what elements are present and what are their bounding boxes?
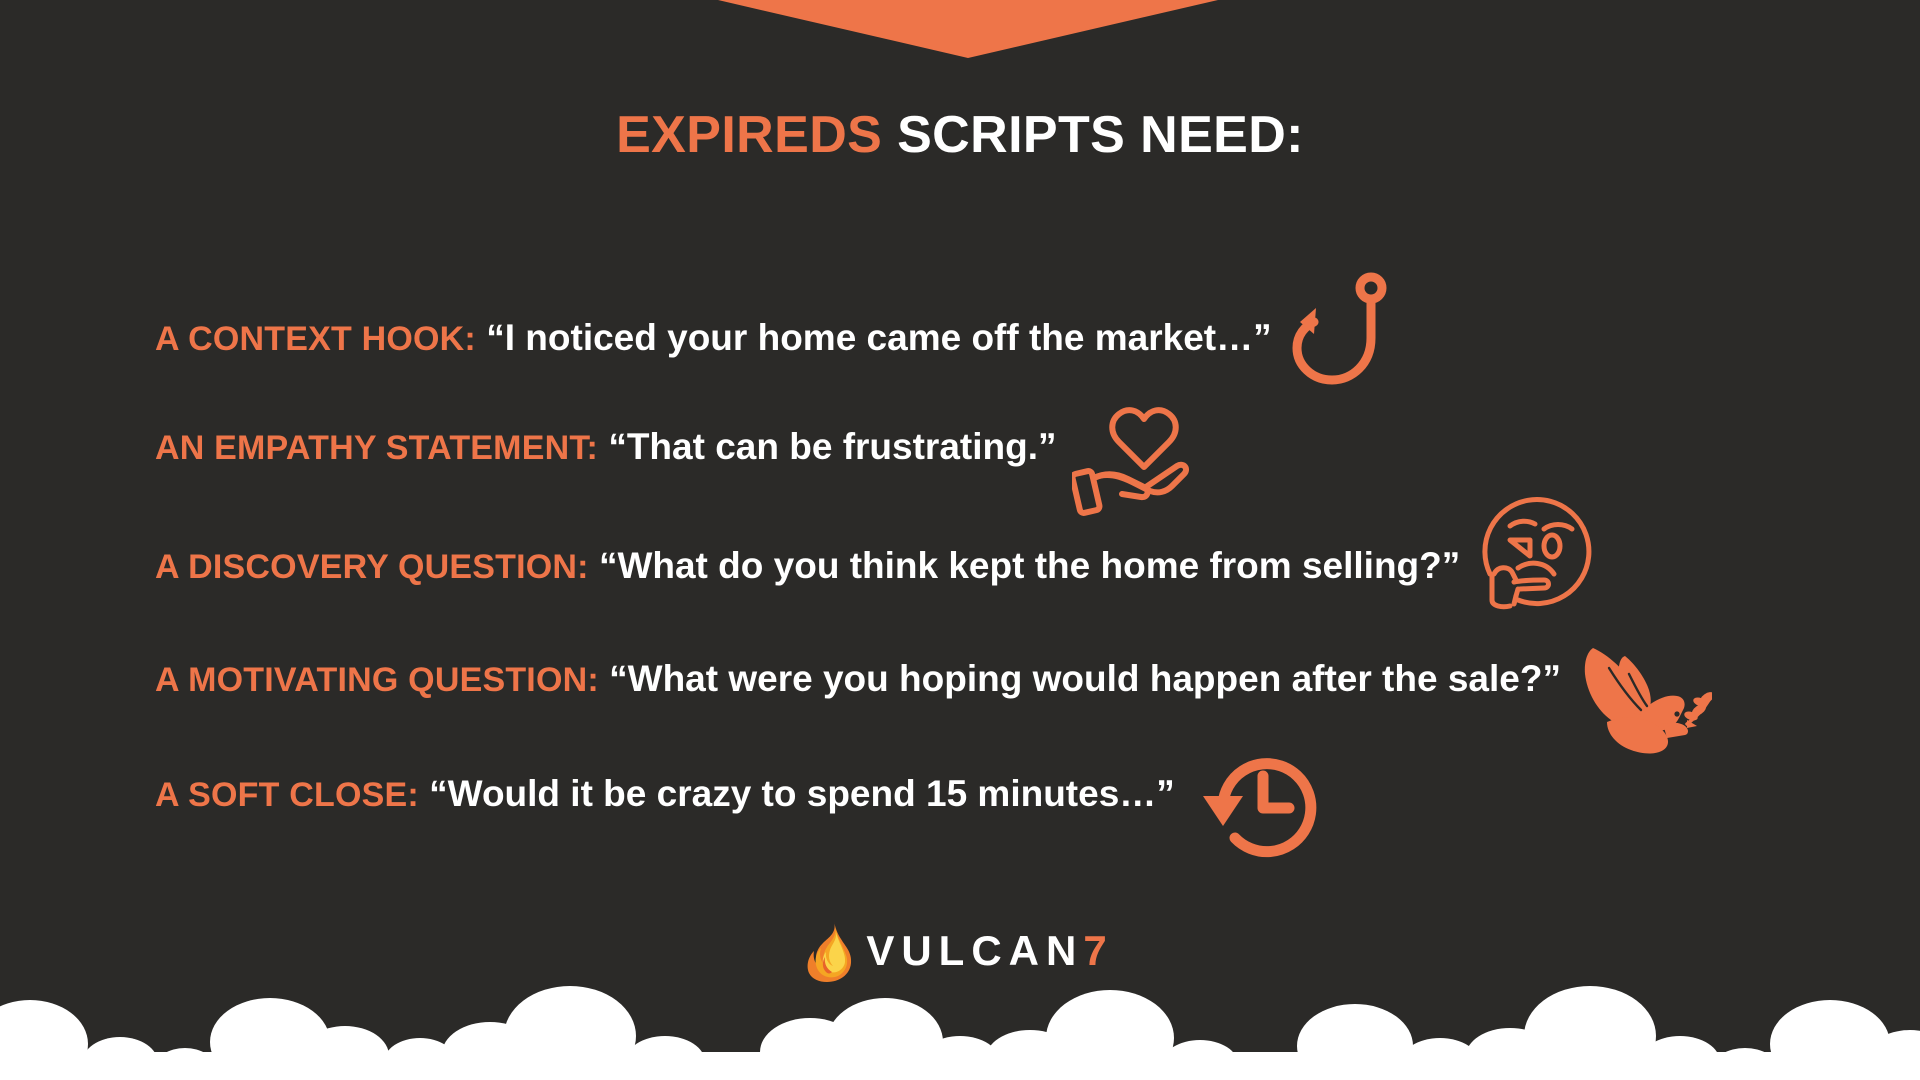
list-item-quote: “What were you hoping would happen after…: [599, 658, 1561, 699]
list-item-label: AN EMPATHY STATEMENT:: [155, 429, 598, 467]
list-item-label: A MOTIVATING QUESTION:: [155, 661, 599, 699]
list-item-text: A CONTEXT HOOK: “I noticed your home cam…: [155, 310, 1272, 367]
list-item-empathy-statement: AN EMPATHY STATEMENT: “That can be frust…: [0, 392, 1920, 506]
heart-in-hand-icon: [1072, 406, 1197, 516]
top-chevron-decoration: [718, 0, 1218, 58]
list-item-label: A CONTEXT HOOK:: [155, 320, 476, 358]
list-item-label: A SOFT CLOSE:: [155, 776, 419, 814]
list-item-text: AN EMPATHY STATEMENT: “That can be frust…: [155, 419, 1056, 476]
list-item-quote: “That can be frustrating.”: [598, 426, 1056, 467]
list-item-context-hook: A CONTEXT HOOK: “I noticed your home cam…: [0, 278, 1920, 392]
script-elements-list: A CONTEXT HOOK: “I noticed your home cam…: [0, 278, 1920, 848]
list-item-text: A DISCOVERY QUESTION: “What do you think…: [155, 538, 1460, 595]
logo-suffix: 7: [1083, 927, 1113, 974]
list-item-label: A DISCOVERY QUESTION:: [155, 548, 589, 586]
page-title: EXPIREDS SCRIPTS NEED:: [0, 105, 1920, 165]
list-item-motivating-question: A MOTIVATING QUESTION: “What were you ho…: [0, 620, 1920, 734]
page-title-rest: SCRIPTS NEED:: [882, 106, 1304, 164]
list-item-quote: “What do you think kept the home from se…: [589, 545, 1461, 586]
thinking-face-icon: [1480, 496, 1600, 616]
list-item-quote: “Would it be crazy to spend 15 minutes…”: [419, 773, 1175, 814]
slide-root: EXPIREDS SCRIPTS NEED: A CONTEXT HOOK: “…: [0, 0, 1920, 1080]
logo-wordmark: VULCAN7: [866, 927, 1113, 975]
fish-hook-icon: [1280, 272, 1400, 392]
list-item-soft-close: A SOFT CLOSE: “Would it be crazy to spen…: [0, 734, 1920, 848]
list-item-text: A SOFT CLOSE: “Would it be crazy to spen…: [155, 766, 1175, 823]
list-item-text: A MOTIVATING QUESTION: “What were you ho…: [155, 651, 1561, 708]
cloud-band-decoration: [0, 970, 1920, 1080]
page-title-accent: EXPIREDS: [616, 106, 882, 164]
clock-rewind-icon: [1193, 746, 1323, 866]
logo-name: VULCAN: [866, 927, 1083, 974]
list-item-discovery-question: A DISCOVERY QUESTION: “What do you think…: [0, 506, 1920, 620]
page-title-wrap: EXPIREDS SCRIPTS NEED:: [0, 105, 1920, 165]
list-item-quote: “I noticed your home came off the market…: [476, 317, 1272, 358]
